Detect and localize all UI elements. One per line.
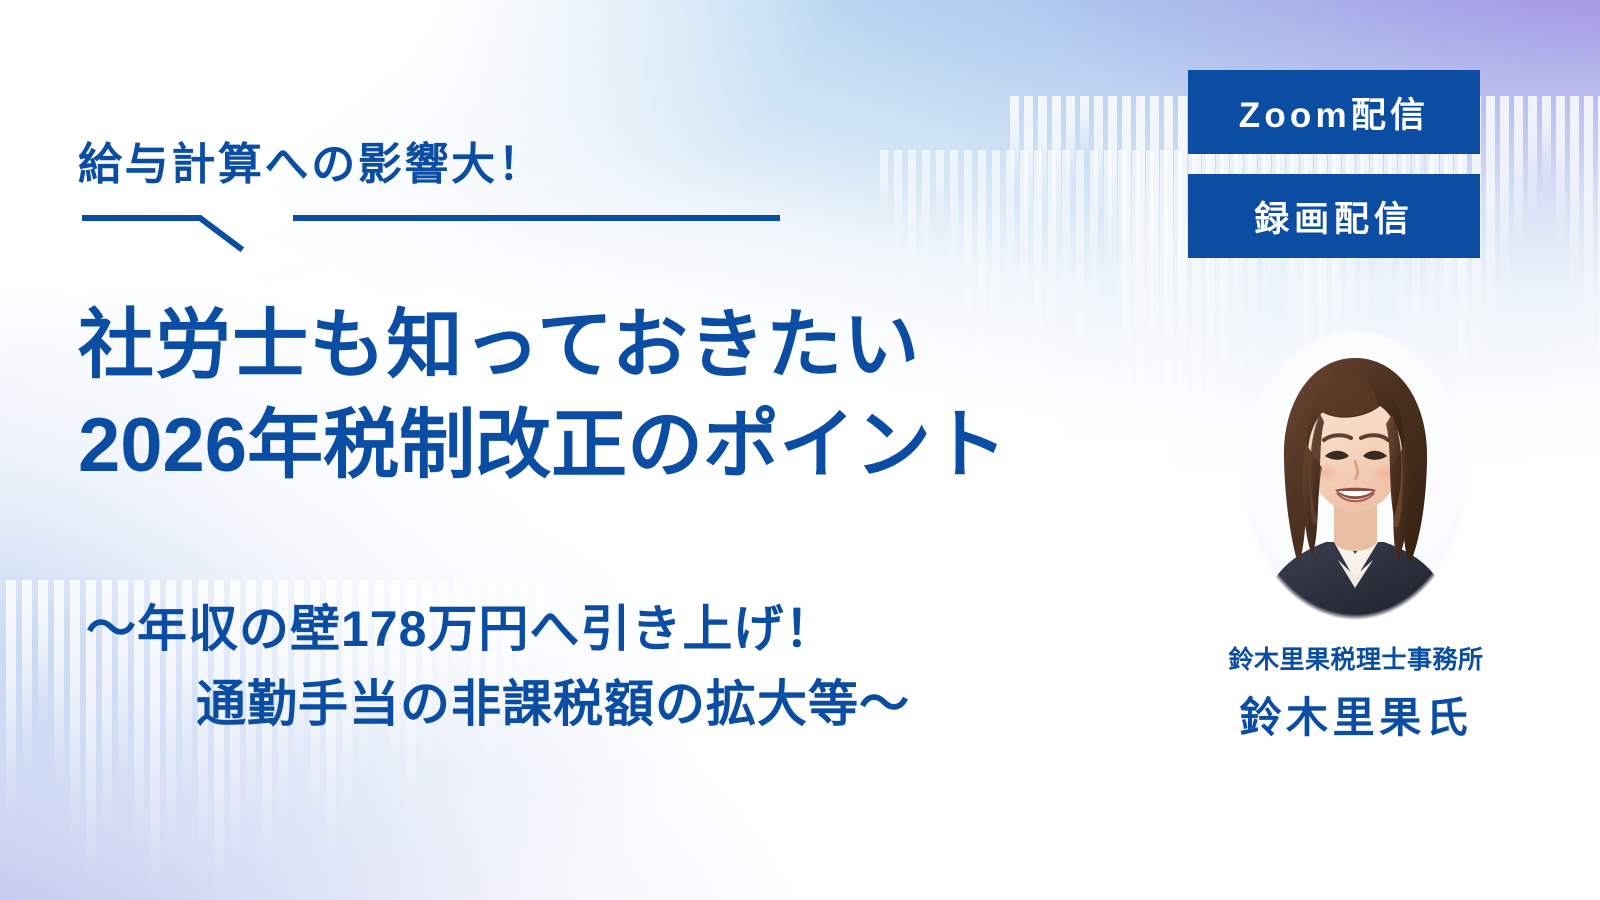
subtitle-line-2: 通勤手当の非課税額の拡大等〜 — [86, 667, 910, 742]
speaker-portrait-illustration — [1242, 328, 1468, 620]
badge-recorded-delivery[interactable]: 録画配信 — [1188, 174, 1480, 258]
speaker-name: 鈴木里果氏 — [1128, 684, 1584, 745]
angled-underline-rule-icon — [80, 200, 780, 252]
webinar-banner: 給与計算への影響大！ 社労士も知っておきたい 2026年税制改正のポイント 〜年… — [0, 0, 1600, 900]
page-title-line-2: 2026年税制改正のポイント — [78, 396, 1007, 496]
page-title-line-1: 社労士も知っておきたい — [78, 296, 1007, 396]
kicker-text: 給与計算への影響大！ — [78, 128, 544, 192]
speaker-photo — [1242, 328, 1468, 620]
badge-zoom-delivery[interactable]: Zoom配信 — [1188, 70, 1480, 154]
subtitle: 〜年収の壁178万円へ引き上げ！ 通勤手当の非課税額の拡大等〜 — [86, 592, 910, 742]
page-title: 社労士も知っておきたい 2026年税制改正のポイント — [78, 296, 1007, 497]
subtitle-line-1: 〜年収の壁178万円へ引き上げ！ — [86, 601, 835, 657]
speaker-photo-circle-mask — [1242, 328, 1468, 620]
speaker-organization: 鈴木里果税理士事務所 — [1128, 640, 1584, 676]
